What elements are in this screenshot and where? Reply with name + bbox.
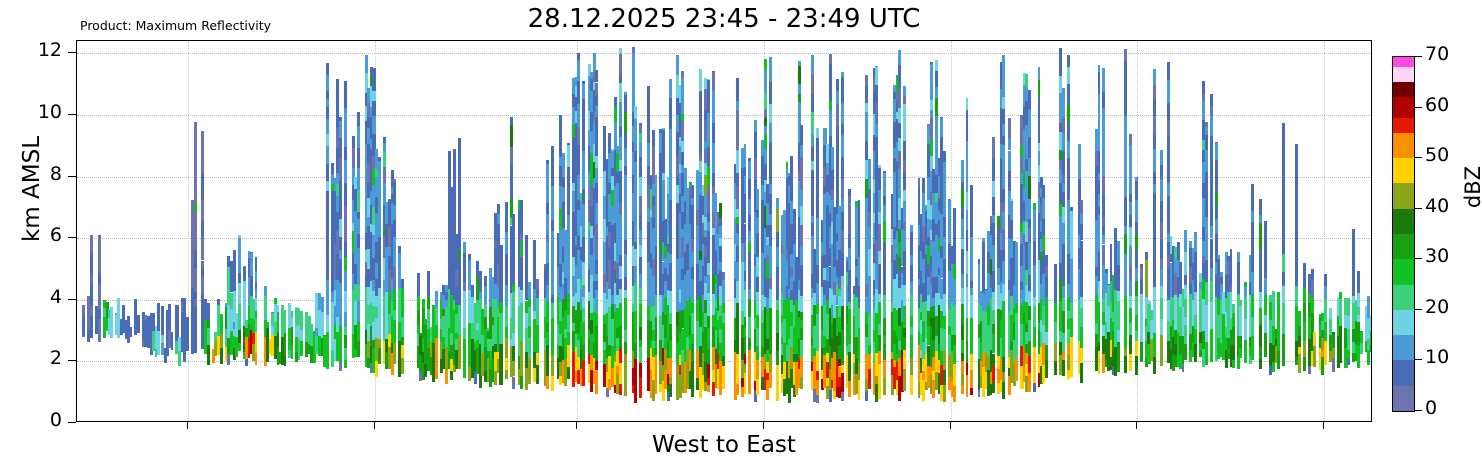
reflectivity-cell	[624, 240, 627, 247]
reflectivity-cell	[614, 107, 617, 123]
reflectivity-cell	[748, 367, 751, 384]
reflectivity-cell	[1124, 154, 1127, 177]
reflectivity-cell	[970, 213, 973, 236]
reflectivity-cell	[764, 71, 767, 93]
reflectivity-cell	[512, 214, 515, 225]
reflectivity-cell	[903, 123, 906, 142]
reflectivity-cell	[1135, 356, 1138, 376]
reflectivity-cell	[669, 324, 672, 341]
reflectivity-cell	[858, 363, 861, 380]
reflectivity-cell	[883, 243, 886, 264]
colorbar-tick-mark	[1415, 359, 1422, 360]
x-tick-mark	[374, 422, 375, 429]
reflectivity-cell	[393, 310, 396, 320]
reflectivity-cell	[756, 360, 759, 380]
reflectivity-cell	[117, 298, 120, 302]
reflectivity-cell	[878, 277, 881, 294]
reflectivity-cell	[1282, 149, 1285, 157]
reflectivity-cell	[788, 386, 791, 403]
reflectivity-cell	[868, 212, 871, 227]
reflectivity-cell	[1010, 220, 1013, 239]
reflectivity-cell	[1124, 348, 1127, 356]
reflectivity-cell	[453, 220, 456, 230]
reflectivity-cell	[903, 251, 906, 263]
colorbar-tick-label: 20	[1425, 296, 1449, 318]
reflectivity-cell	[953, 249, 956, 264]
reflectivity-cell	[769, 246, 772, 266]
colorbar-band	[1393, 335, 1414, 360]
reflectivity-cell	[546, 332, 549, 345]
reflectivity-cell	[463, 275, 466, 283]
reflectivity-cell	[878, 351, 881, 364]
reflectivity-cell	[1251, 222, 1254, 238]
reflectivity-cell	[233, 254, 236, 261]
reflectivity-cell	[471, 285, 474, 286]
reflectivity-cell	[918, 178, 921, 179]
reflectivity-cell	[953, 264, 956, 280]
reflectivity-cell	[1167, 182, 1170, 196]
reflectivity-cell	[1272, 291, 1275, 307]
reflectivity-cell	[546, 203, 549, 215]
reflectivity-cell	[255, 282, 258, 289]
reflectivity-cell	[634, 162, 637, 182]
reflectivity-cell	[858, 279, 861, 286]
reflectivity-cell	[868, 276, 871, 299]
reflectivity-cell	[868, 162, 871, 178]
reflectivity-cell	[1167, 224, 1170, 233]
reflectivity-cell	[966, 175, 969, 185]
reflectivity-cell	[624, 376, 627, 396]
reflectivity-cell	[634, 311, 637, 334]
reflectivity-cell	[903, 337, 906, 350]
reflectivity-cell	[233, 280, 236, 291]
reflectivity-cell	[1311, 269, 1314, 279]
reflectivity-cell	[910, 225, 913, 232]
reflectivity-cell	[194, 299, 197, 307]
reflectivity-cell	[1067, 158, 1070, 180]
reflectivity-cell	[669, 243, 672, 254]
reflectivity-cell	[903, 141, 906, 161]
reflectivity-cell	[736, 262, 739, 281]
reflectivity-cell	[930, 62, 933, 64]
reflectivity-cell	[875, 145, 878, 166]
reflectivity-cell	[567, 236, 570, 250]
reflectivity-cell	[800, 340, 803, 357]
reflectivity-cell	[970, 354, 973, 370]
reflectivity-cell	[1028, 341, 1031, 356]
reflectivity-cell	[800, 206, 803, 225]
reflectivity-cell	[811, 161, 814, 171]
reflectivity-cell	[1237, 252, 1240, 262]
reflectivity-cell	[655, 191, 658, 208]
reflectivity-cell	[1264, 229, 1267, 244]
reflectivity-cell	[339, 295, 342, 314]
colorbar-band	[1393, 67, 1414, 82]
reflectivity-cell	[992, 137, 995, 158]
reflectivity-cell	[1277, 310, 1280, 330]
reflectivity-cell	[505, 269, 508, 285]
reflectivity-cell	[978, 264, 981, 274]
reflectivity-cell	[238, 343, 241, 352]
reflectivity-cell	[943, 154, 946, 162]
reflectivity-cell	[910, 358, 913, 375]
reflectivity-cell	[1259, 308, 1262, 325]
reflectivity-cell	[1311, 279, 1314, 298]
reflectivity-cell	[505, 214, 508, 232]
reflectivity-cell	[1129, 215, 1132, 227]
reflectivity-cell	[719, 226, 722, 238]
reflectivity-cell	[499, 245, 502, 252]
reflectivity-cell	[458, 142, 461, 158]
reflectivity-cell	[1002, 319, 1005, 337]
reflectivity-cell	[1215, 143, 1218, 160]
reflectivity-cell	[357, 322, 360, 341]
reflectivity-cell	[712, 99, 715, 123]
reflectivity-cell	[1124, 356, 1127, 373]
reflectivity-cell	[326, 349, 329, 369]
reflectivity-cell	[463, 242, 466, 253]
reflectivity-cell	[567, 145, 570, 167]
reflectivity-cell	[339, 340, 342, 362]
reflectivity-cell	[401, 345, 404, 359]
reflectivity-cell	[634, 283, 637, 301]
reflectivity-cell	[966, 110, 969, 130]
reflectivity-cell	[326, 75, 329, 91]
reflectivity-cell	[1033, 241, 1036, 251]
reflectivity-cell	[736, 111, 739, 127]
reflectivity-cell	[961, 207, 964, 219]
reflectivity-cell	[1184, 252, 1187, 275]
reflectivity-cell	[551, 355, 554, 369]
reflectivity-cell	[161, 311, 164, 335]
reflectivity-cell	[848, 189, 851, 196]
reflectivity-cell	[1102, 155, 1105, 176]
reflectivity-cell	[255, 318, 258, 331]
reflectivity-cell	[510, 117, 513, 126]
reflectivity-cell	[722, 287, 725, 303]
reflectivity-cell	[868, 159, 871, 162]
reflectivity-cell	[970, 388, 973, 395]
reflectivity-cell	[841, 77, 844, 85]
reflectivity-cell	[953, 225, 956, 237]
reflectivity-cell	[754, 120, 757, 133]
reflectivity-cell	[1259, 223, 1262, 233]
reflectivity-cell	[1070, 244, 1073, 258]
reflectivity-cell	[1264, 347, 1267, 358]
colorbar-tick-mark	[1415, 157, 1422, 158]
reflectivity-cell	[582, 204, 585, 225]
reflectivity-cell	[1259, 292, 1262, 308]
reflectivity-cell	[194, 268, 197, 285]
reflectivity-cell	[619, 233, 622, 256]
reflectivity-cell	[1140, 279, 1143, 294]
reflectivity-cell	[357, 285, 360, 301]
reflectivity-cell	[868, 299, 871, 315]
reflectivity-cell	[1124, 134, 1127, 154]
reflectivity-cell	[1098, 180, 1101, 193]
reflectivity-cell	[634, 106, 637, 119]
reflectivity-cell	[1140, 331, 1143, 342]
reflectivity-cell	[243, 266, 246, 267]
reflectivity-cell	[1054, 343, 1057, 361]
reflectivity-cell	[1002, 203, 1005, 211]
reflectivity-cell	[357, 248, 360, 264]
reflectivity-cell	[559, 115, 562, 134]
reflectivity-cell	[756, 189, 759, 195]
reflectivity-cell	[551, 186, 554, 203]
reflectivity-cell	[1002, 145, 1005, 152]
reflectivity-cell	[831, 190, 834, 200]
reflectivity-cell	[624, 95, 627, 112]
reflectivity-cell	[1105, 269, 1108, 273]
reflectivity-cell	[250, 252, 253, 253]
reflectivity-cell	[940, 117, 943, 118]
reflectivity-cell	[1179, 270, 1182, 285]
reflectivity-cell	[520, 225, 523, 234]
reflectivity-cell	[1015, 273, 1018, 288]
reflectivity-cell	[520, 303, 523, 310]
colorbar	[1392, 56, 1415, 412]
reflectivity-cell	[326, 280, 329, 291]
reflectivity-cell	[90, 245, 93, 253]
reflectivity-cell	[848, 282, 851, 302]
reflectivity-cell	[378, 307, 381, 329]
reflectivity-cell	[634, 151, 637, 163]
x-tick-mark	[763, 422, 764, 429]
reflectivity-cell	[868, 369, 871, 389]
reflectivity-cell	[715, 193, 718, 207]
reflectivity-cell	[816, 329, 819, 351]
reflectivity-cell	[1002, 97, 1005, 109]
reflectivity-cell	[1282, 345, 1285, 366]
reflectivity-cell	[458, 251, 461, 259]
reflectivity-cell	[769, 184, 772, 194]
reflectivity-cell	[463, 328, 466, 339]
y-tick-label: 2	[16, 347, 62, 369]
reflectivity-cell	[546, 263, 549, 284]
reflectivity-cell	[1332, 335, 1335, 347]
reflectivity-cell	[764, 118, 767, 126]
reflectivity-cell	[966, 318, 969, 341]
reflectivity-cell	[769, 194, 772, 214]
reflectivity-cell	[1259, 347, 1262, 359]
reflectivity-cell	[848, 215, 851, 234]
reflectivity-cell	[1008, 139, 1011, 150]
reflectivity-cell	[1244, 282, 1247, 287]
reflectivity-cell	[194, 292, 197, 299]
reflectivity-cell	[339, 130, 342, 138]
reflectivity-cell	[512, 275, 515, 284]
reflectivity-cell	[1259, 325, 1262, 347]
colorbar-band	[1393, 183, 1414, 208]
reflectivity-cell	[1045, 345, 1048, 360]
reflectivity-cell	[1042, 219, 1045, 235]
reflectivity-cell	[344, 131, 347, 148]
reflectivity-cell	[961, 219, 964, 239]
reflectivity-cell	[1062, 207, 1065, 223]
reflectivity-cell	[1160, 179, 1163, 201]
reflectivity-cell	[841, 392, 844, 401]
reflectivity-cell	[90, 316, 93, 328]
reflectivity-cell	[1045, 315, 1048, 332]
reflectivity-cell	[326, 306, 329, 314]
reflectivity-cell	[427, 288, 430, 299]
reflectivity-cell	[624, 298, 627, 318]
reflectivity-cell	[1205, 172, 1208, 194]
reflectivity-cell	[1038, 151, 1041, 165]
reflectivity-cell	[898, 108, 901, 123]
reflectivity-cell	[1002, 284, 1005, 302]
reflectivity-cell	[647, 86, 650, 104]
reflectivity-cell	[1210, 136, 1213, 149]
reflectivity-cell	[227, 354, 230, 365]
reflectivity-cell	[1033, 203, 1036, 210]
reflectivity-cell	[383, 143, 386, 152]
reflectivity-cell	[520, 360, 523, 368]
reflectivity-cell	[865, 141, 868, 160]
y-tick-mark	[68, 360, 76, 361]
y-tick-label: 8	[16, 163, 62, 185]
reflectivity-cell	[308, 316, 311, 321]
reflectivity-cell	[1282, 272, 1285, 286]
reflectivity-cell	[800, 312, 803, 320]
reflectivity-cell	[1033, 347, 1036, 366]
reflectivity-cell	[427, 309, 430, 330]
reflectivity-cell	[1028, 137, 1031, 158]
reflectivity-cell	[1028, 253, 1031, 265]
reflectivity-cell	[811, 236, 814, 245]
reflectivity-cell	[1098, 281, 1101, 302]
reflectivity-cell	[201, 134, 204, 157]
reflectivity-cell	[1339, 299, 1342, 312]
colorbar-tick-label: 70	[1425, 43, 1449, 65]
reflectivity-cell	[233, 261, 236, 281]
colorbar-band	[1393, 259, 1414, 284]
reflectivity-cell	[736, 374, 739, 384]
colorbar-tick-mark	[1415, 56, 1422, 57]
reflectivity-cell	[691, 303, 694, 313]
reflectivity-cell	[1129, 335, 1132, 354]
reflectivity-cell	[848, 263, 851, 270]
reflectivity-cell	[1339, 312, 1342, 326]
reflectivity-cell	[1295, 191, 1298, 210]
reflectivity-cell	[339, 203, 342, 220]
reflectivity-cell	[1080, 327, 1083, 347]
reflectivity-cell	[948, 212, 951, 228]
reflectivity-data-layer	[77, 41, 1371, 421]
reflectivity-cell	[1015, 358, 1018, 382]
reflectivity-cell	[201, 261, 204, 268]
reflectivity-cell	[776, 198, 779, 209]
reflectivity-cell	[816, 218, 819, 225]
reflectivity-cell	[811, 135, 814, 147]
reflectivity-cell	[816, 314, 819, 329]
reflectivity-cell	[1230, 285, 1233, 292]
reflectivity-cell	[1067, 67, 1070, 84]
reflectivity-cell	[619, 222, 622, 233]
reflectivity-cell	[647, 104, 650, 113]
reflectivity-cell	[577, 127, 580, 145]
reflectivity-cell	[1124, 273, 1127, 296]
reflectivity-cell	[326, 107, 329, 119]
reflectivity-cell	[1205, 217, 1208, 225]
reflectivity-cell	[245, 359, 248, 366]
reflectivity-cell	[769, 82, 772, 105]
reflectivity-cell	[520, 341, 523, 360]
reflectivity-cell	[1062, 263, 1065, 286]
reflectivity-cell	[1080, 214, 1083, 224]
reflectivity-cell	[1098, 320, 1101, 342]
reflectivity-cell	[463, 253, 466, 275]
reflectivity-cell	[326, 91, 329, 99]
reflectivity-cell	[567, 367, 570, 379]
reflectivity-cell	[748, 274, 751, 282]
reflectivity-cell	[619, 126, 622, 138]
reflectivity-cell	[277, 332, 280, 347]
reflectivity-cell	[339, 117, 342, 121]
reflectivity-cell	[1298, 347, 1301, 354]
reflectivity-cell	[458, 316, 461, 334]
reflectivity-cell	[171, 332, 174, 351]
reflectivity-cell	[655, 230, 658, 246]
reflectivity-cell	[378, 348, 381, 364]
reflectivity-cell	[992, 334, 995, 353]
reflectivity-cell	[669, 212, 672, 232]
reflectivity-cell	[722, 303, 725, 313]
reflectivity-cell	[903, 263, 906, 285]
reflectivity-cell	[961, 374, 964, 385]
reflectivity-cell	[339, 138, 342, 158]
reflectivity-cell	[536, 298, 539, 307]
reflectivity-cell	[669, 313, 672, 324]
reflectivity-cell	[736, 233, 739, 247]
reflectivity-cell	[1028, 90, 1031, 97]
reflectivity-cell	[841, 86, 844, 104]
reflectivity-cell	[764, 134, 767, 148]
reflectivity-cell	[255, 289, 258, 298]
reflectivity-cell	[344, 160, 347, 183]
reflectivity-cell	[624, 186, 627, 209]
reflectivity-cell	[903, 328, 906, 337]
reflectivity-cell	[1298, 354, 1301, 373]
reflectivity-cell	[769, 308, 772, 332]
reflectivity-cell	[1010, 201, 1013, 220]
reflectivity-cell	[776, 247, 779, 267]
reflectivity-cell	[194, 233, 197, 251]
reflectivity-cell	[512, 225, 515, 246]
reflectivity-cell	[546, 285, 549, 303]
reflectivity-cell	[582, 262, 585, 285]
reflectivity-cell	[1033, 265, 1036, 287]
reflectivity-cell	[1045, 255, 1048, 265]
reflectivity-cell	[497, 204, 500, 214]
reflectivity-cell	[1129, 354, 1132, 371]
reflectivity-cell	[1102, 72, 1105, 92]
reflectivity-cell	[1210, 246, 1213, 258]
reflectivity-cell	[736, 322, 739, 341]
reflectivity-cell	[1205, 225, 1208, 239]
reflectivity-cell	[546, 224, 549, 235]
reflectivity-cell	[1215, 219, 1218, 234]
reflectivity-cell	[1339, 342, 1342, 363]
reflectivity-cell	[468, 254, 471, 260]
reflectivity-cell	[1129, 308, 1132, 323]
reflectivity-cell	[898, 87, 901, 109]
reflectivity-cell	[1042, 185, 1045, 187]
reflectivity-cell	[699, 69, 702, 91]
reflectivity-cell	[1215, 206, 1218, 219]
reflectivity-cell	[744, 364, 747, 373]
